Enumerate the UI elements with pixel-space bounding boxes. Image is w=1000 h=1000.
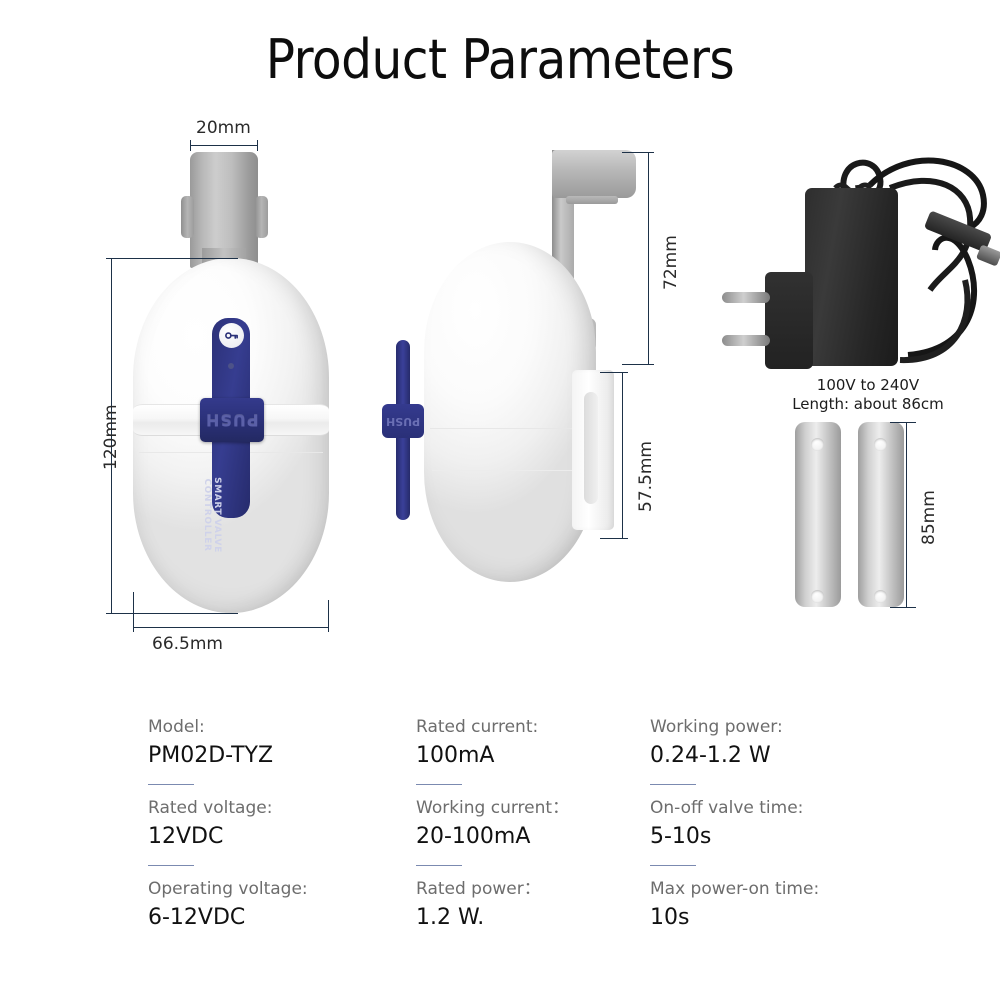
clamp-ear-right — [255, 196, 268, 238]
spec-column-3: Working power: 0.24-1.2 W On-off valve t… — [650, 714, 900, 940]
adapter-plug-face — [765, 272, 813, 369]
key-icon — [224, 328, 239, 343]
spec-item: Working current： 20-100mA — [416, 795, 666, 853]
spec-item: Rated voltage: 12VDC — [148, 795, 398, 853]
push-button-front[interactable]: PUSH — [200, 398, 264, 442]
spec-value: PM02D-TYZ — [148, 740, 398, 772]
spec-label: Working current： — [416, 795, 666, 821]
push-button-side-label: PUSH — [386, 415, 420, 428]
valve-actuator-head — [552, 150, 636, 198]
spec-label: Working power: — [650, 714, 900, 740]
spec-label: Model: — [148, 714, 398, 740]
dim-20mm-label: 20mm — [196, 118, 251, 138]
valve-actuator-lip — [566, 196, 618, 204]
dim-120mm-label: 120mm — [101, 404, 121, 470]
spec-label: On-off valve time: — [650, 795, 900, 821]
spec-value: 10s — [650, 902, 900, 934]
push-button-label: PUSH — [205, 411, 259, 430]
spec-label: Rated power： — [416, 876, 666, 902]
infographic-canvas: Product Parameters 20mm PUSH SMART VALVE… — [0, 0, 1000, 1000]
spec-label: Max power-on time: — [650, 876, 900, 902]
status-led — [228, 363, 234, 369]
spec-item: Operating voltage: 6-12VDC — [148, 876, 398, 934]
device-body-side — [424, 242, 596, 582]
dim-72mm-tick-top — [622, 152, 654, 153]
spec-label: Operating voltage: — [148, 876, 398, 902]
adapter-length-text: Length: about 86cm — [738, 395, 998, 414]
strap-2-hole-bottom — [874, 590, 887, 603]
dim-85mm-tick-bottom — [890, 607, 916, 608]
spec-item: On-off valve time: 5-10s — [650, 795, 900, 853]
spec-item: Rated power： 1.2 W. — [416, 876, 666, 934]
device-side-seam-1 — [430, 428, 588, 429]
key-icon-button[interactable] — [219, 323, 244, 348]
adapter-pin-top — [722, 292, 770, 303]
spec-divider — [416, 784, 462, 785]
spec-item: Working power: 0.24-1.2 W — [650, 714, 900, 772]
dim-120mm-tick-top — [106, 258, 238, 259]
clamp-ear-left — [181, 196, 194, 238]
dim-20mm-line — [190, 145, 258, 146]
spec-column-1: Model: PM02D-TYZ Rated voltage: 12VDC Op… — [148, 714, 398, 940]
dim-665mm-line — [133, 627, 329, 628]
dim-20mm-tick-right — [257, 140, 258, 151]
adapter-caption: 100V to 240V Length: about 86cm — [738, 376, 998, 414]
dim-85mm-line — [906, 422, 907, 607]
push-button-side[interactable]: PUSH — [382, 404, 424, 438]
spec-column-2: Rated current: 100mA Working current： 20… — [416, 714, 666, 940]
spec-value: 20-100mA — [416, 821, 666, 853]
strap-1-hole-bottom — [811, 590, 824, 603]
bracket-slot — [584, 392, 598, 504]
spec-value: 1.2 W. — [416, 902, 666, 934]
dim-665mm-tick-left — [133, 592, 134, 632]
dim-72mm-tick-bottom — [622, 364, 654, 365]
spec-item: Max power-on time: 10s — [650, 876, 900, 934]
spec-label: Rated current: — [416, 714, 666, 740]
strap-1-hole-top — [811, 438, 824, 451]
product-name-text: SMART VALVE CONTROLLER — [202, 455, 222, 575]
dim-72mm-line — [648, 152, 649, 364]
spec-value: 100mA — [416, 740, 666, 772]
dim-665mm-label: 66.5mm — [152, 634, 223, 654]
dim-72mm-label: 72mm — [661, 235, 681, 290]
dim-20mm-tick-left — [190, 140, 191, 151]
adapter-pin-bottom — [722, 335, 770, 346]
spec-divider — [650, 865, 696, 866]
spec-item: Model: PM02D-TYZ — [148, 714, 398, 772]
dim-575mm-tick-top — [600, 372, 628, 373]
spec-label: Rated voltage: — [148, 795, 398, 821]
spec-divider — [148, 865, 194, 866]
spec-value: 12VDC — [148, 821, 398, 853]
page-title: Product Parameters — [0, 28, 1000, 91]
spec-value: 5-10s — [650, 821, 900, 853]
spec-divider — [148, 784, 194, 785]
dim-575mm-tick-bottom — [600, 538, 628, 539]
spec-divider — [416, 865, 462, 866]
spec-value: 0.24-1.2 W — [650, 740, 900, 772]
dim-665mm-tick-right — [328, 600, 329, 632]
dim-575mm-label: 57.5mm — [636, 441, 656, 512]
adapter-voltage-text: 100V to 240V — [738, 376, 998, 395]
dim-120mm-tick-bottom — [106, 613, 238, 614]
spec-divider — [650, 784, 696, 785]
spec-item: Rated current: 100mA — [416, 714, 666, 772]
device-side-seam-2 — [432, 470, 582, 471]
spec-value: 6-12VDC — [148, 902, 398, 934]
dim-575mm-line — [622, 372, 623, 538]
dim-85mm-label: 85mm — [919, 490, 939, 545]
adapter-housing — [805, 188, 898, 366]
dim-85mm-tick-top — [890, 422, 916, 423]
strap-2-hole-top — [874, 438, 887, 451]
